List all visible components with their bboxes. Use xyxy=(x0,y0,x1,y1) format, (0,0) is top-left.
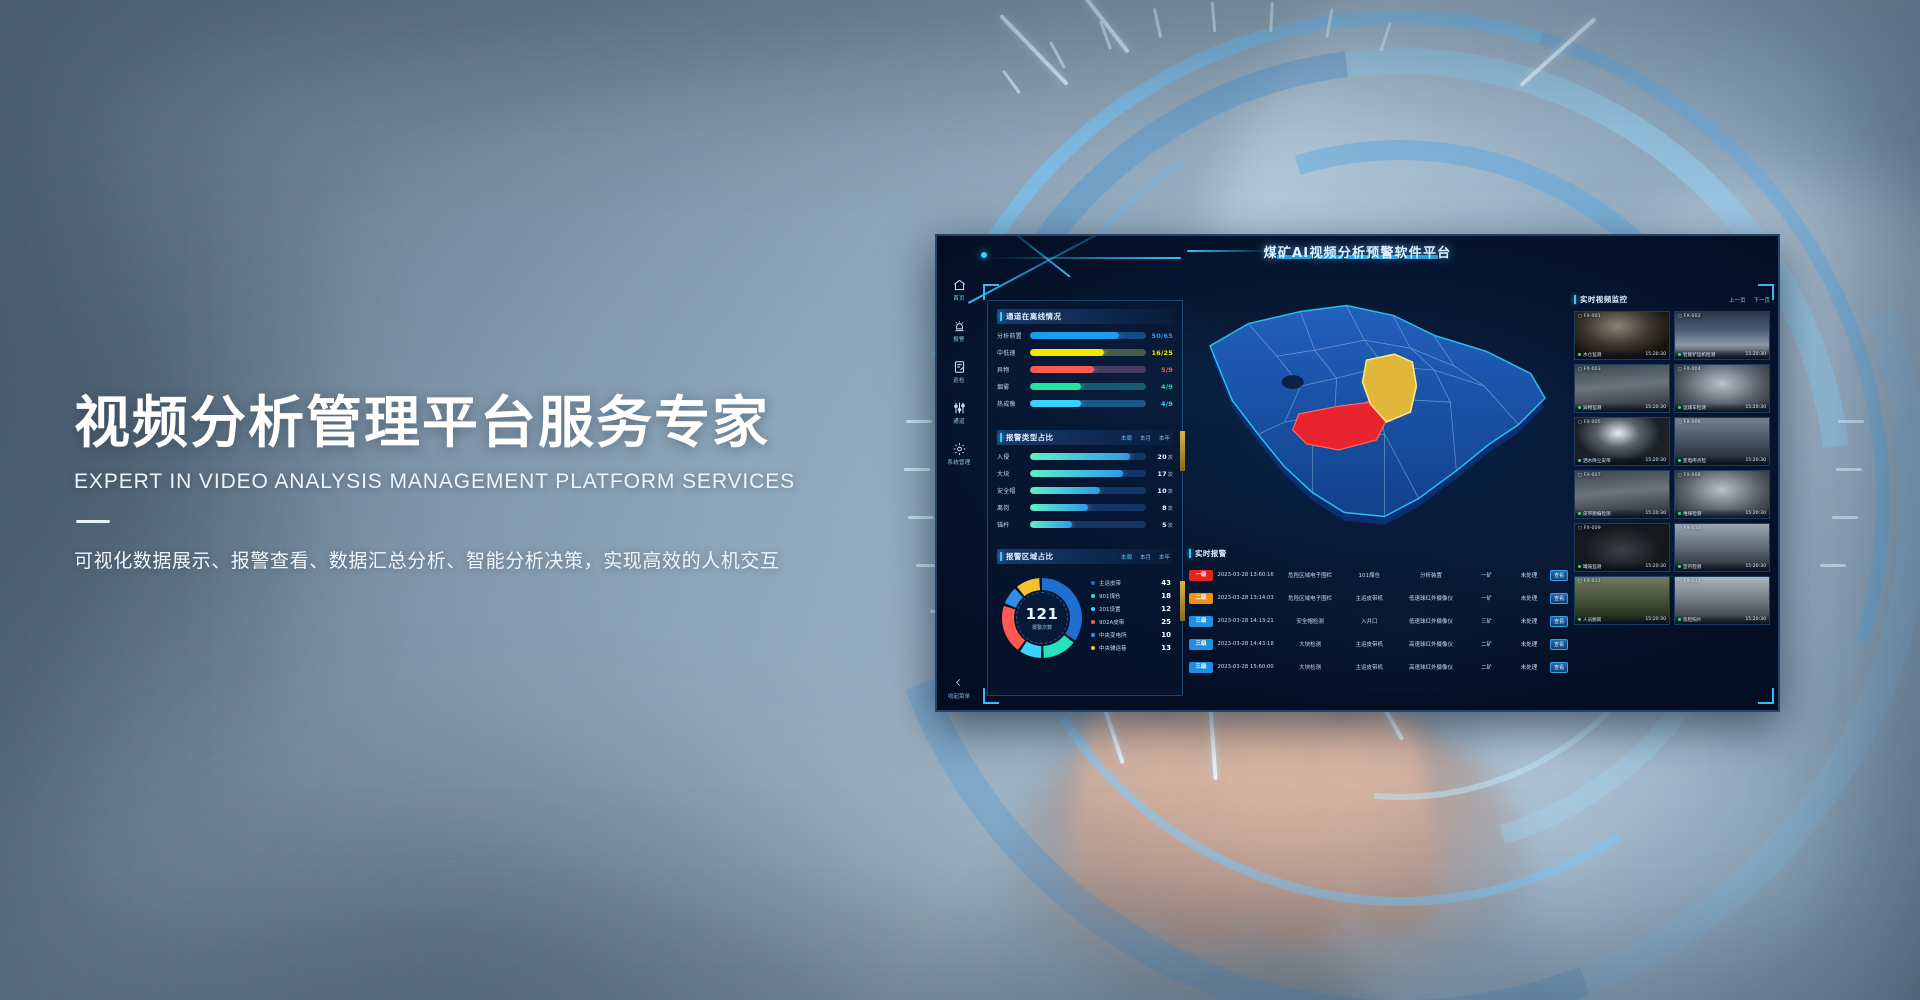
alarm-type-name: 锚杆 xyxy=(997,520,1030,529)
video-caption: 异物监测 xyxy=(1578,405,1601,411)
period-tab[interactable]: 本年 xyxy=(1159,434,1170,442)
channel-row: 分析前置 50/65 xyxy=(997,331,1173,340)
progress-track xyxy=(1030,366,1146,373)
period-tab[interactable]: 本周 xyxy=(1121,553,1132,561)
channel-icon xyxy=(952,401,967,415)
sidebar-item-alarm[interactable]: 报警 xyxy=(937,319,981,343)
alarm-status: 未处理 xyxy=(1508,663,1550,671)
video-cell[interactable]: ◻ FX-009 罐笼监测 15:20:30 xyxy=(1574,523,1670,572)
progress-track xyxy=(1030,470,1146,477)
alarm-mine: 一矿 xyxy=(1465,594,1507,602)
alarm-type-value: 8次 xyxy=(1146,504,1173,512)
table-row[interactable]: 三级 2023-03-28 15:60:00 大块检测 主运皮带机 高速球红外摄… xyxy=(1189,657,1568,677)
table-row[interactable]: 二级 2023-03-28 13:14:03 危险区域电子围栏 主运皮带机 低速… xyxy=(1189,588,1568,608)
sidebar-item-home[interactable]: 首页 xyxy=(937,278,981,302)
progress-fill xyxy=(1030,453,1130,460)
channel-name: 分析前置 xyxy=(997,331,1030,340)
realtime-alarm-panel: 实时报警 一级 2023-03-28 13:60:16 危险区域电子围栏 101… xyxy=(1189,548,1568,698)
video-grid: ◻ FX-001 水仓监测 15:20:30 ◻ FX-002 智能铲运机检测 … xyxy=(1574,311,1770,625)
panel-title: 实时视频监控 xyxy=(1580,294,1627,305)
table-row[interactable]: 三级 2023-03-28 14:13:21 安全帽检测 入井口 低速球红外摄像… xyxy=(1189,611,1568,631)
alarm-device: 高速球红外摄像仪 xyxy=(1397,663,1466,671)
alarm-type-row: 入侵 20次 xyxy=(997,452,1173,461)
alarm-type-rows: 入侵 20次大块 17次安全帽 10次离岗 8次锚杆 5次 xyxy=(997,452,1173,529)
progress-fill xyxy=(1030,470,1123,477)
sidebar-item-inspection[interactable]: 巡检 xyxy=(937,360,981,384)
accent-bar-icon xyxy=(1000,312,1002,321)
video-channel-id: ◻ FX-009 xyxy=(1578,526,1601,531)
page-subtitle: EXPERT IN VIDEO ANALYSIS MANAGEMENT PLAT… xyxy=(74,470,894,494)
legend-value: 12 xyxy=(1161,605,1171,613)
progress-track xyxy=(1030,453,1146,460)
prev-page-button[interactable]: 上一页 xyxy=(1729,296,1746,304)
progress-fill xyxy=(1030,487,1100,494)
period-tab[interactable]: 本年 xyxy=(1159,553,1170,561)
legend-value: 10 xyxy=(1161,631,1171,639)
alarm-time: 2023-03-28 14:43:18 xyxy=(1213,641,1278,647)
alarm-type-name: 入侵 xyxy=(997,452,1030,461)
panel-header: 实时报警 xyxy=(1189,548,1568,559)
status-dot-icon xyxy=(1678,618,1681,621)
legend-swatch xyxy=(1091,646,1095,650)
status-badge: 三级 xyxy=(1189,616,1213,627)
view-button[interactable]: 查看 xyxy=(1550,662,1568,673)
legend-item[interactable]: 中央辅运巷 13 xyxy=(1091,644,1171,652)
alarm-area-donut-chart[interactable]: 121 报警次数 xyxy=(999,575,1085,661)
status-badge: 三级 xyxy=(1189,662,1213,673)
legend-swatch xyxy=(1091,581,1095,585)
period-tab[interactable]: 本月 xyxy=(1140,553,1151,561)
video-channel-id: ◻ FX-002 xyxy=(1678,314,1701,319)
alarm-time: 2023-03-28 15:60:00 xyxy=(1213,664,1278,670)
table-row[interactable]: 三级 2023-03-28 14:43:18 大块检测 主运皮带机 高速球红外摄… xyxy=(1189,634,1568,654)
panel-header: 实时视频监控 上一页 下一页 xyxy=(1574,294,1770,305)
legend-label: 201设置 xyxy=(1099,605,1161,613)
status-dot-icon xyxy=(1578,459,1581,462)
home-icon xyxy=(952,278,967,292)
legend-item[interactable]: 中央变电所 10 xyxy=(1091,631,1171,639)
video-cell[interactable]: ◻ FX-004 运煤车检测 15:20:30 xyxy=(1674,364,1770,413)
video-caption: 堆煤检测 xyxy=(1678,511,1701,517)
sidebar-collapse[interactable]: 收起菜单 xyxy=(948,673,970,700)
alarm-type-value: 17次 xyxy=(1146,470,1173,478)
alarm-device: 高速球红外摄像仪 xyxy=(1397,640,1466,648)
hero-copy: 视频分析管理平台服务专家 EXPERT IN VIDEO ANALYSIS MA… xyxy=(74,390,894,577)
alarm-icon xyxy=(952,319,967,333)
channel-value: 4/9 xyxy=(1146,400,1173,408)
gear-icon xyxy=(952,442,967,456)
legend-item[interactable]: 901煤仓 18 xyxy=(1091,592,1171,600)
video-cell[interactable]: ◻ FX-006 变电所点检 15:20:30 xyxy=(1674,417,1770,466)
alarm-device: 低速球红外摄像仪 xyxy=(1397,617,1466,625)
panel-title: 报警类型占比 xyxy=(1006,432,1053,443)
channel-row: 异物 5/9 xyxy=(997,365,1173,374)
donut-label: 报警次数 xyxy=(1032,624,1052,631)
channel-name: 异物 xyxy=(997,365,1030,374)
alarm-type: 危险区域电子围栏 xyxy=(1278,571,1342,579)
video-channel-id: ◻ FX-004 xyxy=(1678,367,1701,372)
legend-value: 18 xyxy=(1161,592,1171,600)
progress-fill xyxy=(1030,400,1081,407)
alarm-mine: 一矿 xyxy=(1465,571,1507,579)
progress-fill xyxy=(1030,349,1104,356)
legend-label: 中央变电所 xyxy=(1099,631,1161,639)
alarm-status: 未处理 xyxy=(1508,640,1550,648)
header-dot-icon xyxy=(981,252,987,258)
sidebar-label: 系统管理 xyxy=(937,458,981,466)
panel-title: 报警区域占比 xyxy=(1006,551,1053,562)
period-tab[interactable]: 本月 xyxy=(1140,434,1151,442)
alarm-status: 未处理 xyxy=(1508,594,1550,602)
period-tabs: 本周本月本年 xyxy=(1121,553,1170,561)
panel-header: 报警类型占比 本周本月本年 xyxy=(997,430,1173,445)
donut-value: 121 xyxy=(1026,605,1059,623)
alarm-type: 安全帽检测 xyxy=(1278,617,1342,625)
alarm-mine: 三矿 xyxy=(1465,617,1507,625)
legend-swatch xyxy=(1091,607,1095,611)
alarm-status: 未处理 xyxy=(1508,617,1550,625)
donut-segment[interactable] xyxy=(1021,584,1040,591)
video-caption: 运煤车检测 xyxy=(1678,405,1706,411)
accent-bar-icon xyxy=(1574,295,1576,304)
inspection-icon xyxy=(952,360,967,374)
alarm-type-row: 大块 17次 xyxy=(997,469,1173,478)
alarm-type-value: 10次 xyxy=(1146,487,1173,495)
video-timestamp: 15:20:30 xyxy=(1745,511,1766,516)
sidebar-item-system[interactable]: 系统管理 xyxy=(937,442,981,466)
map-svg xyxy=(1189,294,1568,544)
view-button[interactable]: 查看 xyxy=(1550,593,1568,604)
progress-fill xyxy=(1030,332,1119,339)
video-timestamp: 15:20:30 xyxy=(1745,405,1766,410)
video-cell[interactable]: ◻ FX-003 异物监测 15:20:30 xyxy=(1574,364,1670,413)
alarm-type: 大块检测 xyxy=(1278,663,1342,671)
video-cell[interactable]: ◻ FX-010 室内检测 15:20:30 xyxy=(1674,523,1770,572)
video-cell[interactable]: ◻ FX-001 水仓监测 15:20:30 xyxy=(1574,311,1670,360)
progress-track xyxy=(1030,504,1146,511)
alarm-device: 分析装置 xyxy=(1397,571,1466,579)
accent-bar-icon xyxy=(1000,433,1002,442)
legend-swatch xyxy=(1091,594,1095,598)
progress-fill xyxy=(1030,366,1094,373)
channel-value: 16/25 xyxy=(1146,349,1173,357)
progress-track xyxy=(1030,400,1146,407)
video-caption: 变电所点检 xyxy=(1678,458,1706,464)
legend-value: 43 xyxy=(1161,579,1171,587)
video-timestamp: 15:20:30 xyxy=(1645,405,1666,410)
alarm-type: 大块检测 xyxy=(1278,640,1342,648)
alarm-table: 一级 2023-03-28 13:60:16 危险区域电子围栏 101煤仓 分析… xyxy=(1189,565,1568,677)
status-dot-icon xyxy=(1578,512,1581,515)
alarm-time: 2023-03-28 13:60:16 xyxy=(1213,572,1278,578)
sidebar-item-channel[interactable]: 通道 xyxy=(937,401,981,425)
channel-value: 5/9 xyxy=(1146,366,1173,374)
progress-track xyxy=(1030,487,1146,494)
alarm-type-name: 安全帽 xyxy=(997,486,1030,495)
period-tabs: 本周本月本年 xyxy=(1121,434,1170,442)
video-caption: 室内检测 xyxy=(1678,564,1701,570)
accent-bar-icon xyxy=(1189,549,1191,558)
video-cell[interactable]: ◻ FX-008 堆煤检测 15:20:30 xyxy=(1674,470,1770,519)
alarm-location: 101煤仓 xyxy=(1342,571,1397,579)
alarm-type-name: 离岗 xyxy=(997,503,1030,512)
legend-value: 13 xyxy=(1161,644,1171,652)
panel-header: 通道在离线情况 xyxy=(997,309,1173,324)
alarm-mine: 二矿 xyxy=(1465,640,1507,648)
alarm-type-row: 锚杆 5次 xyxy=(997,520,1173,529)
video-channel-id: ◻ FX-006 xyxy=(1678,420,1701,425)
legend-swatch xyxy=(1091,633,1095,637)
video-channel-id: ◻ FX-011 xyxy=(1578,579,1601,584)
video-caption: 水仓监测 xyxy=(1578,352,1601,358)
status-dot-icon xyxy=(1678,459,1681,462)
alarm-type-value: 20次 xyxy=(1146,453,1173,461)
page-title: 视频分析管理平台服务专家 xyxy=(74,390,894,456)
donut-legend: 主运皮带 43 901煤仓 18 201设置 12 902A皮带 25 中央变电… xyxy=(1091,579,1171,657)
video-caption: 巡检照片 xyxy=(1678,617,1701,623)
channel-status-panel: 通道在离线情况 分析前置 50/65中低速 16/25异物 5/9烟雾 4/9热… xyxy=(988,301,1182,420)
sidebar: 首页 报警 巡检 通道 系统管理 收起菜单 xyxy=(937,266,981,710)
legend-label: 901煤仓 xyxy=(1099,592,1161,600)
video-channel-id: ◻ FX-010 xyxy=(1678,526,1701,531)
status-dot-icon xyxy=(1578,406,1581,409)
legend-item[interactable]: 201设置 12 xyxy=(1091,605,1171,613)
progress-track xyxy=(1030,349,1146,356)
channel-name: 烟雾 xyxy=(997,382,1030,391)
legend-value: 25 xyxy=(1161,618,1171,626)
video-timestamp: 15:20:30 xyxy=(1745,564,1766,569)
channel-name: 中低速 xyxy=(997,348,1030,357)
legend-item[interactable]: 主运皮带 43 xyxy=(1091,579,1171,587)
alarm-type: 危险区域电子围栏 xyxy=(1278,594,1342,602)
collapse-icon xyxy=(953,677,964,688)
channel-row: 热成像 4/9 xyxy=(997,399,1173,408)
video-channel-id: ◻ FX-007 xyxy=(1578,473,1601,478)
video-cell[interactable]: ◻ FX-007 皮带跑偏检测 15:20:30 xyxy=(1574,470,1670,519)
dashboard-header: 煤矿AI视频分析预警软件平台 xyxy=(937,236,1778,270)
status-dot-icon xyxy=(1678,353,1681,356)
video-monitor-panel: 实时视频监控 上一页 下一页 ◻ FX-001 水仓监测 15:20:30 ◻ … xyxy=(1574,294,1770,698)
channel-name: 热成像 xyxy=(997,399,1030,408)
table-row[interactable]: 一级 2023-03-28 13:60:16 危险区域电子围栏 101煤仓 分析… xyxy=(1189,565,1568,585)
channel-rows: 分析前置 50/65中低速 16/25异物 5/9烟雾 4/9热成像 4/9 xyxy=(997,331,1173,408)
video-timestamp: 15:20:30 xyxy=(1645,511,1666,516)
video-caption: 皮带跑偏检测 xyxy=(1578,511,1611,517)
status-dot-icon xyxy=(1678,406,1681,409)
video-cell[interactable]: ◻ FX-005 洒水降尘皮带 15:20:30 xyxy=(1574,417,1670,466)
sidebar-label: 通道 xyxy=(937,417,981,425)
legend-item[interactable]: 902A皮带 25 xyxy=(1091,618,1171,626)
alarm-mine: 二矿 xyxy=(1465,663,1507,671)
page-description: 可视化数据展示、报警查看、数据汇总分析、智能分析决策，实现高效的人机交互 xyxy=(74,547,894,577)
status-dot-icon xyxy=(1578,618,1581,621)
left-panel-column: 通道在离线情况 分析前置 50/65中低速 16/25异物 5/9烟雾 4/9热… xyxy=(987,300,1183,696)
video-cell[interactable]: ◻ FX-002 智能铲运机检测 15:20:30 xyxy=(1674,311,1770,360)
sidebar-label: 巡检 xyxy=(937,376,981,384)
donut-segment[interactable] xyxy=(1023,646,1041,652)
legend-swatch xyxy=(1091,620,1095,624)
video-timestamp: 15:20:30 xyxy=(1645,458,1666,463)
view-button[interactable]: 查看 xyxy=(1550,570,1568,581)
panel-title: 通道在离线情况 xyxy=(1006,311,1061,322)
video-timestamp: 15:20:30 xyxy=(1745,352,1766,357)
channel-row: 中低速 16/25 xyxy=(997,348,1173,357)
divider xyxy=(76,520,110,523)
alarm-location: 主运皮带机 xyxy=(1342,594,1397,602)
channel-value: 4/9 xyxy=(1146,383,1173,391)
alarm-location: 入井口 xyxy=(1342,617,1397,625)
alarm-type-row: 安全帽 10次 xyxy=(997,486,1173,495)
alarm-time: 2023-03-28 13:14:03 xyxy=(1213,595,1278,601)
panel-title: 实时报警 xyxy=(1195,548,1227,559)
alarm-area-panel: 报警区域占比 本周本月本年 121 报警次数 主运皮带 43 901煤仓 18 … xyxy=(988,541,1182,665)
accent-bar-icon xyxy=(1000,552,1002,561)
video-cell[interactable]: ◻ FX-011 人员脱岗 15:20:30 xyxy=(1574,576,1670,625)
dashboard-title: 煤矿AI视频分析预警软件平台 xyxy=(1264,242,1452,261)
video-channel-id: ◻ FX-005 xyxy=(1578,420,1601,425)
alarm-device: 低速球红外摄像仪 xyxy=(1397,594,1466,602)
status-badge: 三级 xyxy=(1189,639,1213,650)
video-caption: 罐笼监测 xyxy=(1578,564,1601,570)
alarm-type-value: 5次 xyxy=(1146,521,1173,529)
dashboard-screen[interactable]: 煤矿AI视频分析预警软件平台 首页 报警 巡检 通道 xyxy=(935,234,1780,712)
video-caption: 智能铲运机检测 xyxy=(1678,352,1715,358)
progress-track xyxy=(1030,383,1146,390)
progress-fill xyxy=(1030,504,1088,511)
alarm-time: 2023-03-28 14:13:21 xyxy=(1213,618,1278,624)
status-dot-icon xyxy=(1578,353,1581,356)
province-map[interactable] xyxy=(1189,294,1568,544)
video-channel-id: ◻ FX-001 xyxy=(1578,314,1601,319)
view-button[interactable]: 查看 xyxy=(1550,639,1568,650)
alarm-location: 主运皮带机 xyxy=(1342,663,1397,671)
alarm-type-name: 大块 xyxy=(997,469,1030,478)
video-caption: 洒水降尘皮带 xyxy=(1578,458,1611,464)
status-badge: 二级 xyxy=(1189,593,1213,604)
legend-label: 主运皮带 xyxy=(1099,579,1161,587)
sidebar-label: 报警 xyxy=(937,335,981,343)
progress-fill xyxy=(1030,521,1072,528)
legend-label: 中央辅运巷 xyxy=(1099,644,1161,652)
video-caption: 人员脱岗 xyxy=(1578,617,1601,623)
status-dot-icon xyxy=(1578,565,1581,568)
donut-segment[interactable] xyxy=(1010,593,1019,605)
video-timestamp: 15:20:30 xyxy=(1645,564,1666,569)
alarm-status: 未处理 xyxy=(1508,571,1550,579)
status-badge: 一级 xyxy=(1189,570,1213,581)
sidebar-label: 首页 xyxy=(937,294,981,302)
video-cell[interactable]: ◻ FX-012 巡检照片 15:20:30 xyxy=(1674,576,1770,625)
video-channel-id: ◻ FX-012 xyxy=(1678,579,1701,584)
progress-fill xyxy=(1030,383,1081,390)
donut-center: 121 报警次数 xyxy=(1016,592,1068,644)
progress-track xyxy=(1030,332,1146,339)
channel-value: 50/65 xyxy=(1146,332,1173,340)
sidebar-collapse-label: 收起菜单 xyxy=(948,692,970,700)
video-timestamp: 15:20:30 xyxy=(1745,458,1766,463)
channel-row: 烟雾 4/9 xyxy=(997,382,1173,391)
progress-track xyxy=(1030,521,1146,528)
period-tab[interactable]: 本周 xyxy=(1121,434,1132,442)
status-dot-icon xyxy=(1678,565,1681,568)
view-button[interactable]: 查看 xyxy=(1550,616,1568,627)
video-channel-id: ◻ FX-003 xyxy=(1578,367,1601,372)
alarm-type-row: 离岗 8次 xyxy=(997,503,1173,512)
video-channel-id: ◻ FX-008 xyxy=(1678,473,1701,478)
video-timestamp: 15:20:30 xyxy=(1645,352,1666,357)
alarm-type-panel: 报警类型占比 本周本月本年 入侵 20次大块 17次安全帽 10次离岗 8次锚杆… xyxy=(988,420,1182,541)
alarm-location: 主运皮带机 xyxy=(1342,640,1397,648)
video-timestamp: 15:20:30 xyxy=(1645,617,1666,622)
video-timestamp: 15:20:30 xyxy=(1745,617,1766,622)
status-dot-icon xyxy=(1678,512,1681,515)
panel-header: 报警区域占比 本周本月本年 xyxy=(997,549,1173,564)
legend-label: 902A皮带 xyxy=(1099,618,1161,626)
